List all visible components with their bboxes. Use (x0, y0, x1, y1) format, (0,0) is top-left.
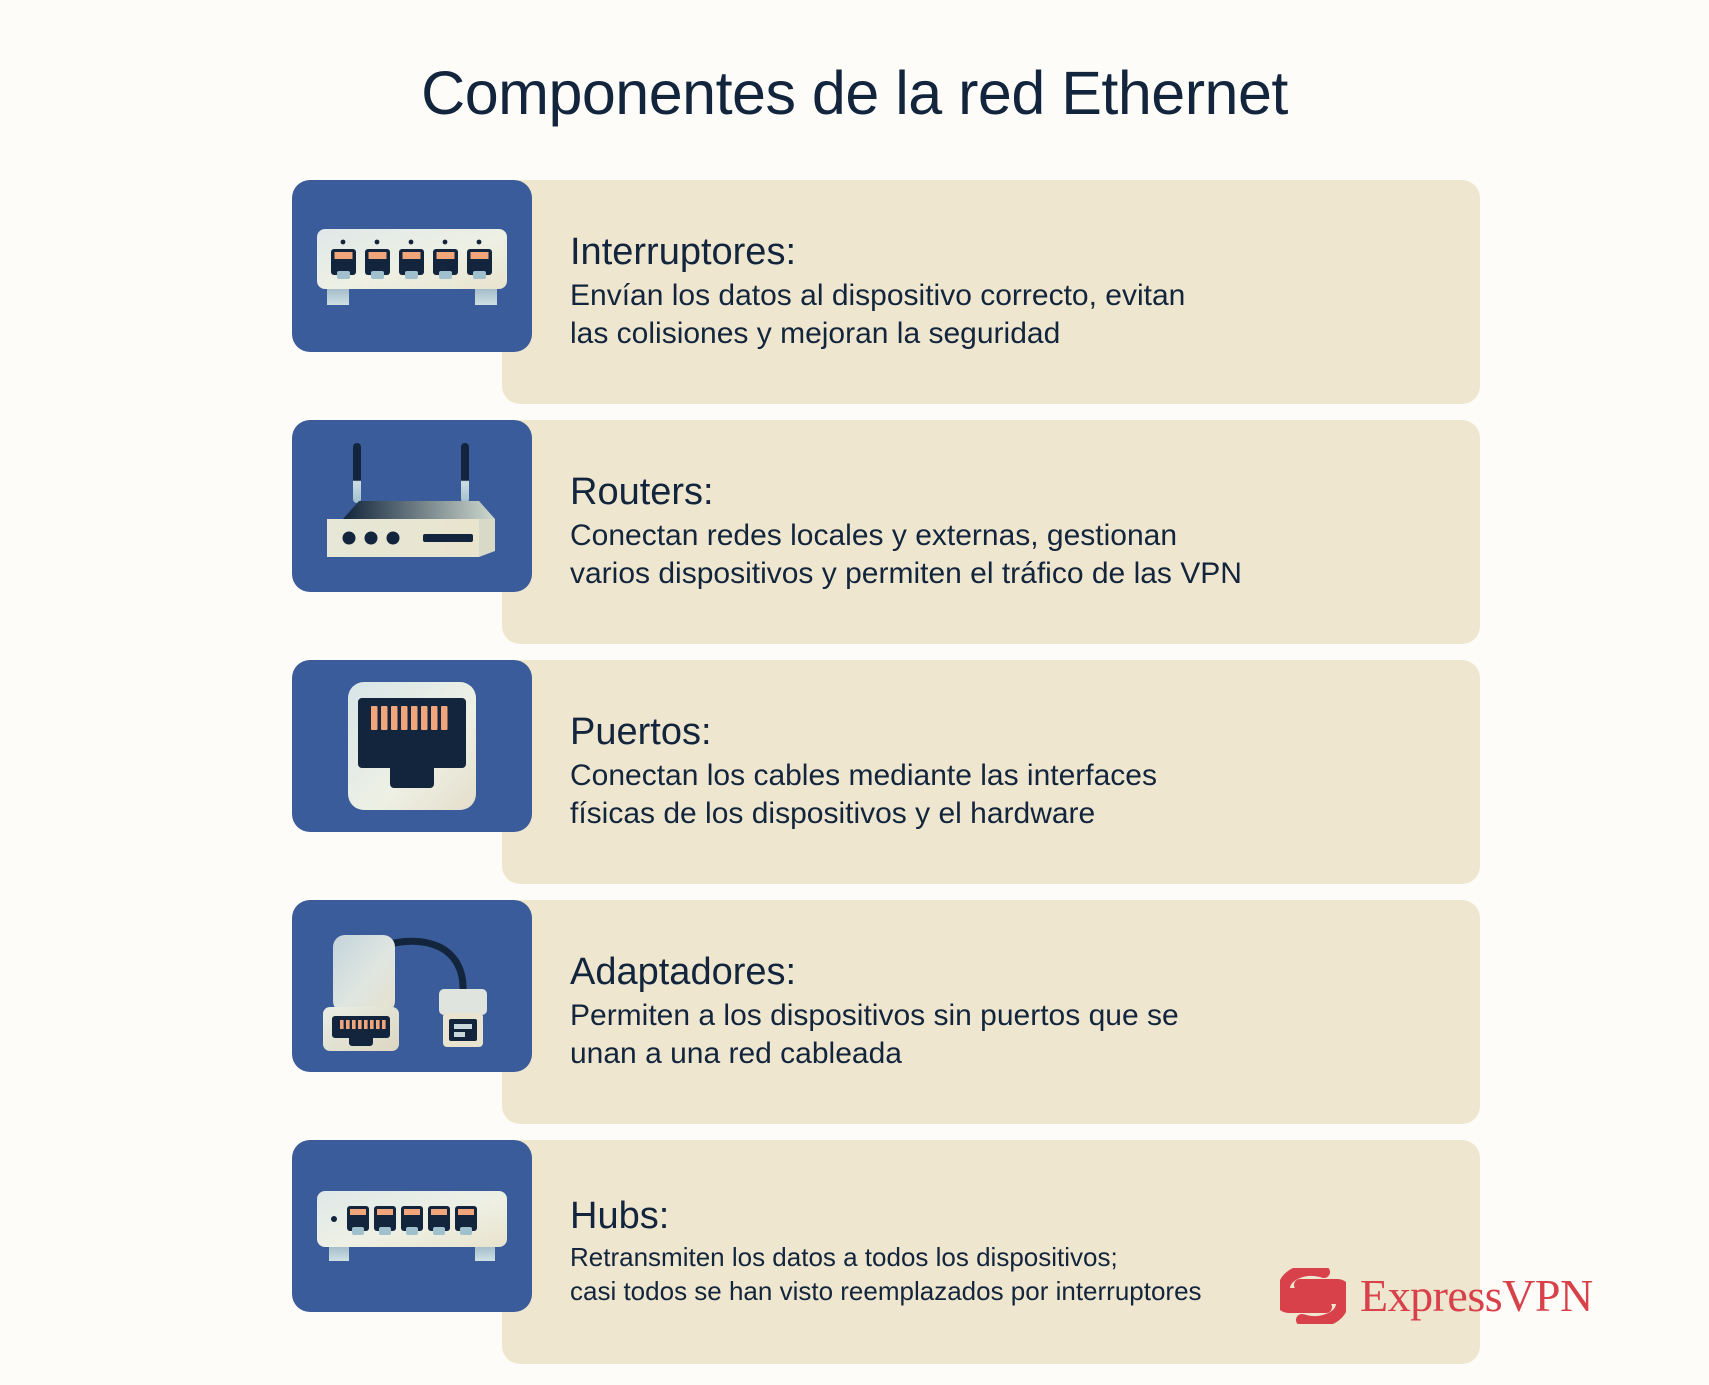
list-item: Routers: Conectan redes locales y extern… (292, 420, 1480, 644)
usb-ethernet-adapter-icon (315, 919, 510, 1054)
list-item: Interruptores: Envían los datos al dispo… (292, 180, 1480, 404)
ethernet-switch-icon (317, 211, 507, 321)
wifi-router-icon (327, 439, 497, 574)
card-router: Routers: Conectan redes locales y extern… (502, 420, 1480, 644)
expressvpn-logo-mark (1280, 1268, 1346, 1324)
description-text: Conectan los cables mediante las interfa… (570, 757, 1440, 833)
card-port: Puertos: Conectan los cables mediante la… (502, 660, 1480, 884)
list-item: Puertos: Conectan los cables mediante la… (292, 660, 1480, 884)
list-item: Hubs: Retransmiten los datos a todos los… (292, 1140, 1480, 1364)
icon-tile-adapter (292, 900, 532, 1072)
term-label: Hubs: (570, 1195, 1440, 1238)
component-list: Interruptores: Envían los datos al dispo… (292, 180, 1480, 1380)
term-label: Routers: (570, 471, 1440, 514)
expressvpn-logo: ExpressVPN (1280, 1268, 1593, 1324)
card-hub: Hubs: Retransmiten los datos a todos los… (502, 1140, 1480, 1364)
description-text: Permiten a los dispositivos sin puertos … (570, 997, 1440, 1073)
card-switch: Interruptores: Envían los datos al dispo… (502, 180, 1480, 404)
expressvpn-wordmark: ExpressVPN (1360, 1273, 1593, 1319)
list-item: Adaptadores: Permiten a los dispositivos… (292, 900, 1480, 1124)
rj45-port-icon (348, 682, 476, 810)
icon-tile-hub (292, 1140, 532, 1312)
infographic-page: Componentes de la red Ethernet (0, 0, 1709, 1385)
ethernet-hub-icon (317, 1173, 507, 1279)
term-label: Adaptadores: (570, 951, 1440, 994)
page-title: Componentes de la red Ethernet (0, 58, 1709, 128)
icon-tile-router (292, 420, 532, 592)
description-text: Conectan redes locales y externas, gesti… (570, 517, 1440, 593)
term-label: Interruptores: (570, 231, 1440, 274)
card-adapter: Adaptadores: Permiten a los dispositivos… (502, 900, 1480, 1124)
term-label: Puertos: (570, 711, 1440, 754)
icon-tile-port (292, 660, 532, 832)
description-text: Envían los datos al dispositivo correcto… (570, 277, 1440, 353)
icon-tile-switch (292, 180, 532, 352)
